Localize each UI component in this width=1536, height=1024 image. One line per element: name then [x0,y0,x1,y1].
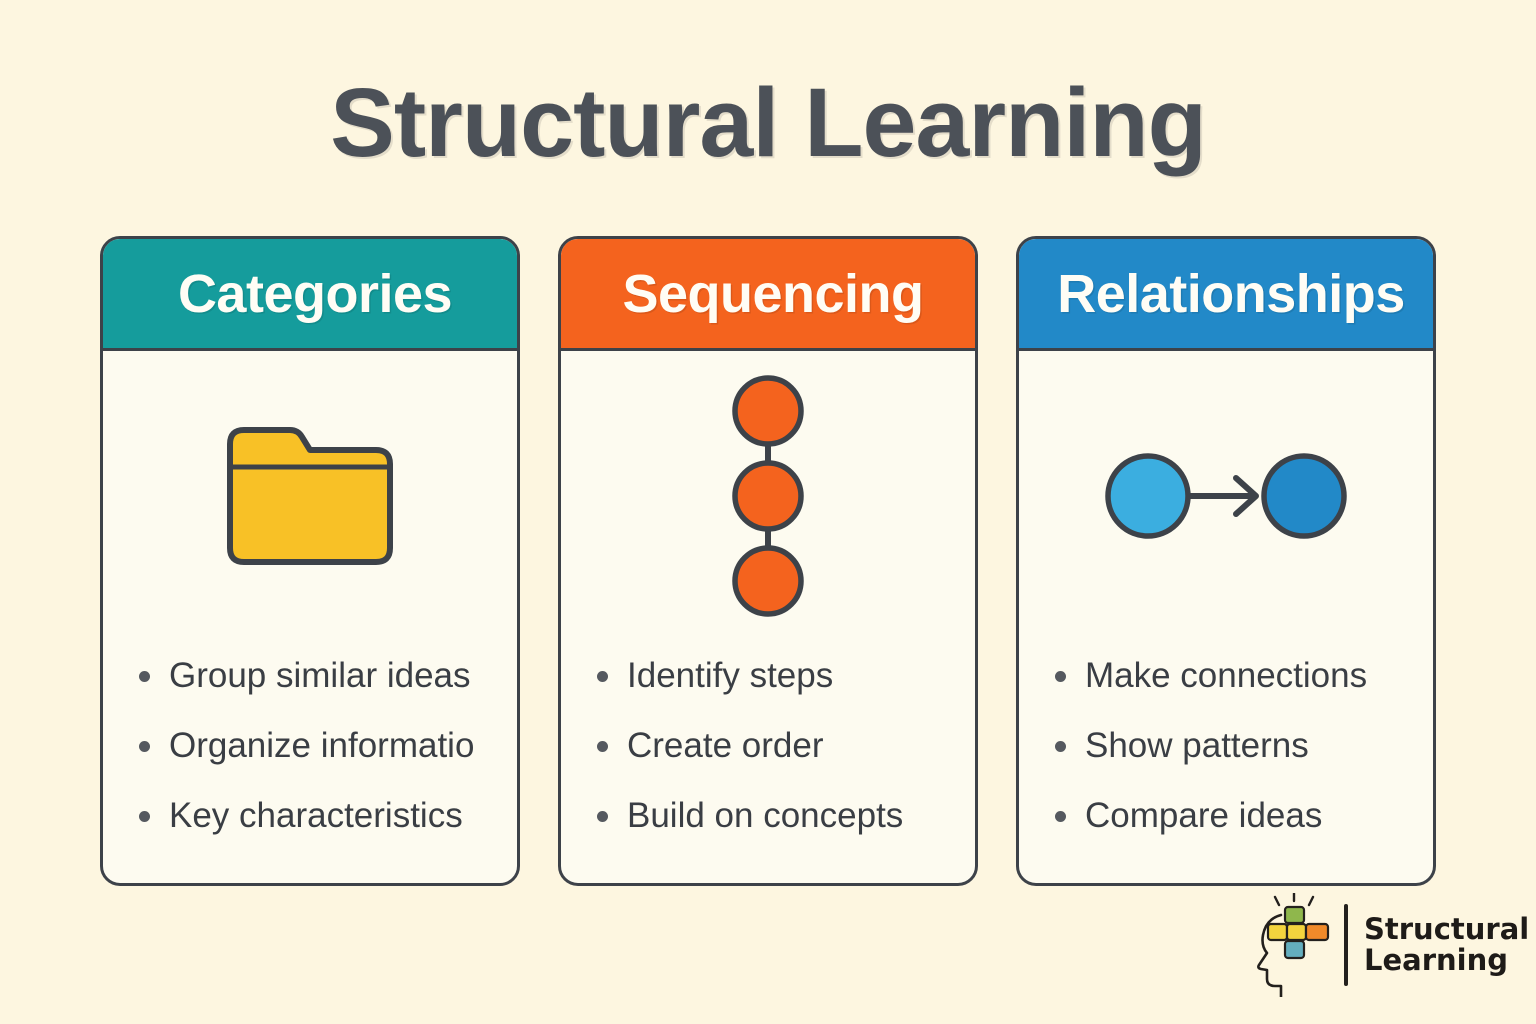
bullet-dot-icon [1055,671,1066,682]
list-item-label: Group similar ideas [169,656,471,696]
list-item-label: Make connections [1085,656,1367,696]
list-item: Make connections [1055,641,1433,711]
cards-container: Categories Group similar ideas Organize … [0,236,1536,886]
list-item-label: Create order [627,726,823,766]
bullet-dot-icon [1055,811,1066,822]
card-icon-categories [103,351,517,641]
card-header-categories: Categories [103,239,517,351]
logo-line-1: Structural [1364,914,1529,945]
card-title-categories: Categories [168,263,452,325]
list-item: Create order [597,711,975,781]
list-item: Organize informatio [139,711,517,781]
card-categories[interactable]: Categories Group similar ideas Organize … [100,236,520,886]
head-with-blocks-icon [1254,893,1340,997]
bullet-list-sequencing: Identify steps Create order Build on con… [561,641,975,883]
list-item: Group similar ideas [139,641,517,711]
list-item-label: Organize informatio [169,726,474,766]
card-icon-sequencing [561,351,975,641]
bullet-list-relationships: Make connections Show patterns Compare i… [1019,641,1433,883]
logo-wordmark: Structural Learning [1364,914,1529,975]
bullet-dot-icon [597,671,608,682]
list-item-label: Key characteristics [169,796,463,836]
list-item: Key characteristics [139,781,517,851]
card-icon-relationships [1019,351,1433,641]
bullet-dot-icon [1055,741,1066,752]
logo-divider [1344,904,1348,986]
linked-circles-icon [708,371,828,621]
card-sequencing[interactable]: Sequencing Identify steps Create order B… [558,236,978,886]
list-item-label: Show patterns [1085,726,1309,766]
bullet-dot-icon [139,741,150,752]
bullet-dot-icon [597,741,608,752]
card-title-relationships: Relationships [1047,263,1405,325]
list-item-label: Identify steps [627,656,833,696]
bullet-dot-icon [139,671,150,682]
list-item: Show patterns [1055,711,1433,781]
list-item-label: Build on concepts [627,796,903,836]
arrow-between-nodes-icon [1096,436,1356,556]
card-title-sequencing: Sequencing [612,263,923,325]
card-header-relationships: Relationships [1019,239,1433,351]
card-relationships[interactable]: Relationships Make connections Show patt… [1016,236,1436,886]
card-header-sequencing: Sequencing [561,239,975,351]
folder-icon [220,416,400,576]
bullet-dot-icon [139,811,150,822]
bullet-dot-icon [597,811,608,822]
list-item-label: Compare ideas [1085,796,1322,836]
brand-logo: Structural Learning [1254,893,1502,997]
bullet-list-categories: Group similar ideas Organize informatio … [103,641,517,883]
list-item: Identify steps [597,641,975,711]
list-item: Build on concepts [597,781,975,851]
logo-line-2: Learning [1364,945,1529,976]
list-item: Compare ideas [1055,781,1433,851]
page-title: Structural Learning [0,74,1536,171]
